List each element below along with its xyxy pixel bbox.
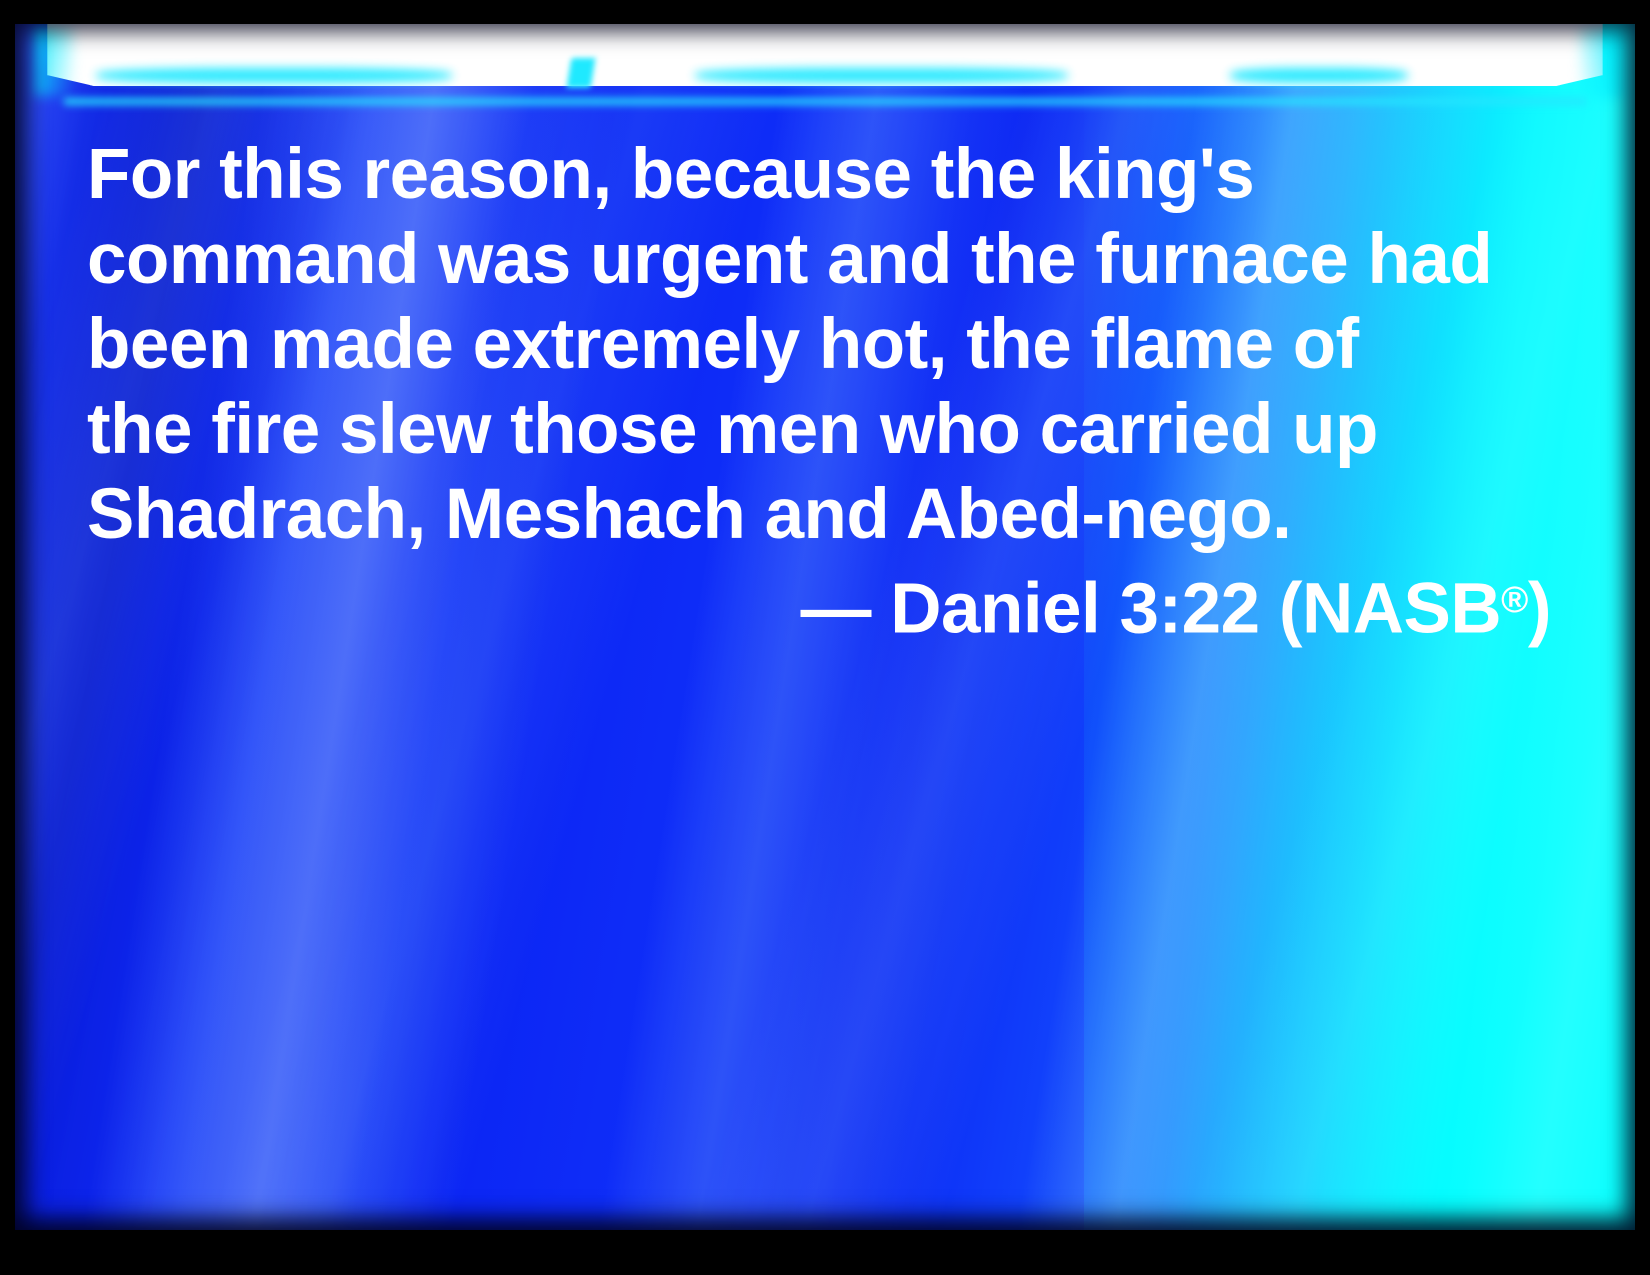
verse-line-2: command was urgent and the furnace had — [87, 217, 1557, 302]
verse-line-5: Shadrach, Meshach and Abed-nego. — [87, 472, 1557, 557]
registered-trademark-icon: ® — [1501, 579, 1528, 620]
slide-frame: For this reason, because the king's comm… — [0, 0, 1650, 1275]
top-glow-band — [15, 24, 1635, 114]
attribution-closing-paren: ) — [1528, 569, 1551, 648]
glow-band-cyan-streak-center — [695, 68, 1068, 83]
glow-band-underline — [64, 98, 1587, 105]
verse-attribution: — Daniel 3:22 (NASB®) — [87, 557, 1557, 651]
glow-band-left-corner — [34, 26, 74, 96]
attribution-em-dash: — — [800, 569, 890, 648]
verse-line-4: the fire slew those men who carried up — [87, 387, 1557, 472]
glow-band-right-corner — [1579, 26, 1625, 98]
verse-line-3: been made extremely hot, the flame of — [87, 302, 1557, 387]
verse-text-block: For this reason, because the king's comm… — [87, 132, 1557, 651]
glow-band-cyan-streak-left — [96, 68, 452, 83]
verse-background-panel: For this reason, because the king's comm… — [15, 24, 1635, 1230]
verse-line-1: For this reason, because the king's — [87, 132, 1557, 217]
attribution-reference: Daniel 3:22 (NASB — [890, 569, 1501, 648]
glow-band-cyan-streak-right — [1230, 68, 1408, 83]
glow-band-cyan-notch — [567, 58, 596, 88]
